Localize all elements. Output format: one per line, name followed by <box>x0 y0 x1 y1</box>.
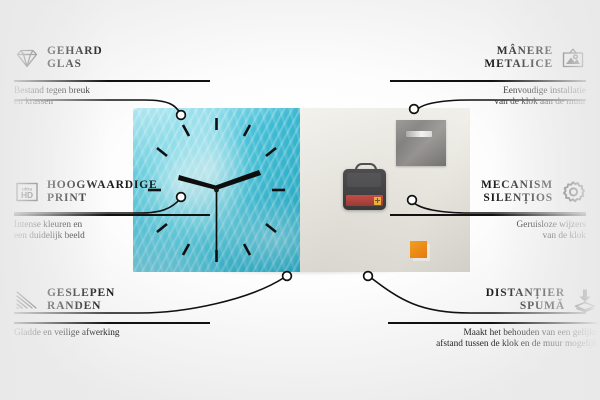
svg-text:HD: HD <box>21 190 33 200</box>
picture-frame-icon <box>560 45 586 71</box>
bevelled-edge-icon <box>14 287 40 313</box>
feature-gehard-glas: GEHARD GLAS Bestand tegen breuk en krass… <box>14 36 210 109</box>
gear-icon <box>560 179 586 205</box>
mechanism-housing <box>347 173 381 187</box>
clock-dial <box>133 108 300 272</box>
feature-geslepen-randen: GESLEPEN RANDEN Gladde en veilige afwerk… <box>14 278 210 339</box>
feature-title: MECANISM SILENȚIOS <box>481 179 553 206</box>
feature-manere-metalice: MÂNERE METALICE Eenvoudige installatie v… <box>390 36 586 109</box>
foam-spacer <box>410 241 427 258</box>
divider <box>390 214 586 216</box>
hanger-slot <box>406 131 432 137</box>
clock-center-cap <box>214 188 219 193</box>
metal-hanger-icon <box>396 120 446 166</box>
spacer-press-icon <box>572 287 598 313</box>
diamond-icon <box>14 45 40 71</box>
feature-description: Geruisloze wijzers van de klok <box>390 220 586 243</box>
feature-title: DISTANȚIER SPUMĂ <box>486 287 565 314</box>
clock-hour-hand <box>178 175 218 190</box>
divider <box>14 80 210 82</box>
infographic-canvas: GEHARD GLAS Bestand tegen breuk en krass… <box>0 0 600 400</box>
divider <box>14 322 210 324</box>
ultra-hd-icon: ultra HD <box>14 179 40 205</box>
feature-description: Gladde en veilige afwerking <box>14 328 210 340</box>
wall-clock-face <box>133 108 300 272</box>
quartz-mechanism <box>343 169 386 210</box>
feature-mecanism-silentios: MECANISM SILENȚIOS Geruisloze wijzers va… <box>390 170 586 243</box>
feature-description: Eenvoudige installatie van de klok aan d… <box>390 86 586 109</box>
aa-battery <box>346 195 383 206</box>
feature-description: Bestand tegen breuk en krassen <box>14 86 210 109</box>
feature-title: GESLEPEN RANDEN <box>47 287 115 314</box>
mechanism-hanging-loop <box>355 163 377 175</box>
feature-distantier-spuma: DISTANȚIER SPUMĂ Maakt het behouden van … <box>388 278 598 351</box>
divider <box>388 322 598 324</box>
clock-minute-hand <box>216 170 262 190</box>
feature-title: MÂNERE METALICE <box>484 45 553 72</box>
divider <box>390 80 586 82</box>
feature-title: GEHARD GLAS <box>47 45 103 72</box>
feature-description: Maakt het behouden van een gelijke afsta… <box>388 328 598 351</box>
battery-plus-marker <box>374 197 381 205</box>
